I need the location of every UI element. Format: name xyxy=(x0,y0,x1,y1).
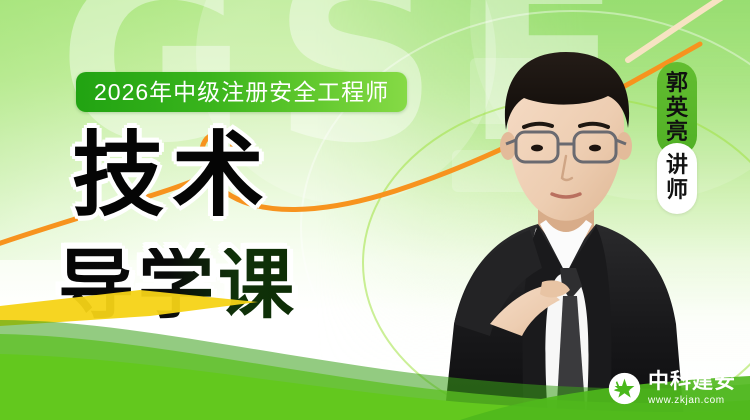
zkjan-circle-logo-icon xyxy=(608,372,641,405)
instructor-name-badge: 郭 英 亮 xyxy=(657,62,697,156)
course-category-label: 2026年中级注册安全工程师 xyxy=(94,81,389,104)
instructor-role-char-1: 讲 xyxy=(666,153,688,178)
course-banner: GSE xyxy=(0,0,750,420)
instructor-role-badge: 讲 师 xyxy=(657,143,697,214)
instructor-name-char-2: 英 xyxy=(666,96,688,121)
brand-name: 中科建安 xyxy=(648,371,736,392)
page-title-sub: 导学课 xyxy=(58,248,298,324)
course-category-badge: 2026年中级注册安全工程师 xyxy=(76,72,407,112)
instructor-name-char-1: 郭 xyxy=(666,71,688,96)
brand-url: www.zkjan.com xyxy=(648,396,736,406)
brand-logo-text: 中科建安 www.zkjan.com xyxy=(648,371,736,406)
instructor-role-char-2: 师 xyxy=(666,178,688,203)
instructor-name-char-3: 亮 xyxy=(666,120,688,145)
page-title-main: 技术 xyxy=(72,130,272,222)
brand-logo[interactable]: 中科建安 www.zkjan.com xyxy=(608,371,736,406)
